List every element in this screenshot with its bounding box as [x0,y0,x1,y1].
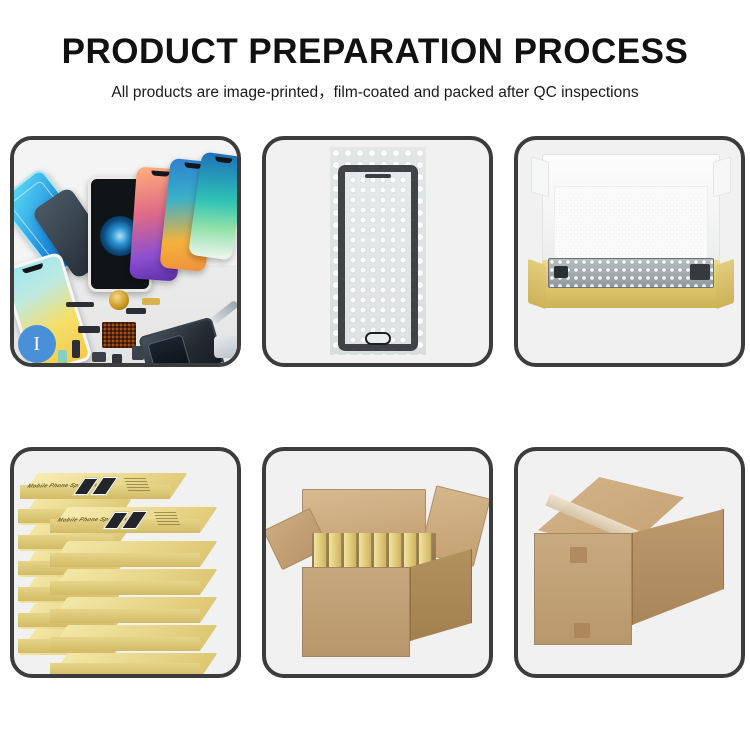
retail-box [50,597,200,623]
battery-connector-part [58,350,67,363]
step-badge-1: I [18,325,56,363]
step-5-image [266,451,489,674]
step-panel-6: VI [514,447,745,678]
step-panel-2: II [262,136,493,367]
carton-tab [574,623,590,638]
header: PRODUCT PREPARATION PROCESS All products… [0,0,750,102]
retail-box-stack: Mobile Phone Spare Parts Mobile Phone [18,469,237,667]
step-6-image [518,451,741,674]
step-4-image: Mobile Phone Spare Parts Mobile Phone [14,451,237,674]
page-title: PRODUCT PREPARATION PROCESS [0,0,750,71]
retail-box [50,625,200,651]
retail-box-printed: Mobile Phone Spare Parts [20,473,170,499]
product-preparation-infographic: PRODUCT PREPARATION PROCESS All products… [0,0,750,750]
vibration-motor-part [109,290,129,310]
step-panel-3: III [514,136,745,367]
retail-box [50,653,200,674]
flex-cable-part [66,302,94,307]
carton-front-face [302,567,410,657]
wrapped-screen-in-box [548,258,714,288]
sim-tray-part [126,308,146,314]
opening-tool [214,336,237,358]
connector-part [142,298,160,305]
retail-box-printed: Mobile Phone Spare Parts [50,507,200,533]
retail-box [50,541,200,567]
screw-tray-part [102,322,136,348]
step-panel-5: V [262,447,493,678]
bracket-part [78,326,100,333]
bubble-wrap-sheet [330,147,426,355]
spring-contact-part [72,340,80,358]
speaker-part [92,352,106,362]
foam-insert [554,186,708,266]
retail-box [50,569,200,595]
wrapped-phone-screen [338,165,418,351]
camera-module-part [112,354,122,363]
steps-grid: I II III [10,136,741,688]
page-subtitle: All products are image-printed，film-coat… [0,71,750,102]
step-3-image [518,140,741,363]
step-panel-4: Mobile Phone Spare Parts Mobile Phone [10,447,241,678]
step-2-image [266,140,489,363]
carton-tab [570,547,587,563]
step-panel-1: I [10,136,241,367]
